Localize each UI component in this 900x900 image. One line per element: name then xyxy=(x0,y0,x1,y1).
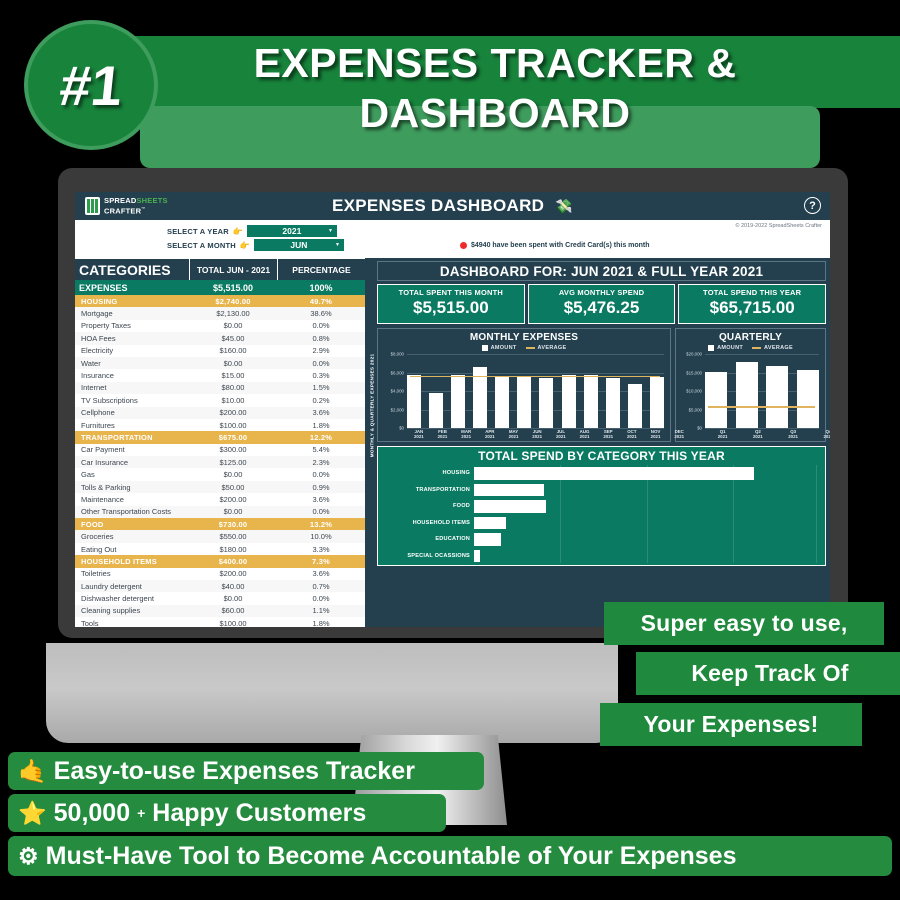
category-bar xyxy=(474,484,544,497)
sheet-topbar: SPREADSHEETS CRAFTER™ EXPENSES DASHBOARD… xyxy=(75,192,830,220)
row-label: Insurance xyxy=(75,371,189,380)
row-pct: 13.2% xyxy=(277,520,365,529)
row-pct: 2.3% xyxy=(277,458,365,467)
row-amount: $125.00 xyxy=(189,458,277,467)
month-select-dropdown[interactable]: JUN ▼ xyxy=(254,239,344,251)
legend-line-icon xyxy=(752,347,761,349)
table-row: Cellphone$200.003.6% xyxy=(75,407,365,419)
row-pct: 0.7% xyxy=(277,582,365,591)
legend-line-icon xyxy=(526,347,535,349)
row-label: TV Subscriptions xyxy=(75,396,189,405)
table-row: Car Insurance$125.002.3% xyxy=(75,456,365,468)
x-tick-label: MAR2021 xyxy=(454,429,478,439)
row-amount: $60.00 xyxy=(189,606,277,615)
row-amount: $80.00 xyxy=(189,383,277,392)
row-label: Car Insurance xyxy=(75,458,189,467)
year-selector-row: SELECT A YEAR 👉 2021 ▼ xyxy=(167,225,337,237)
legend-label: AVERAGE xyxy=(764,345,793,351)
row-amount: $45.00 xyxy=(189,334,277,343)
row-pct: 1.1% xyxy=(277,606,365,615)
feature-text-post: Happy Customers xyxy=(152,799,366,828)
chart-bar xyxy=(650,377,664,428)
spreadsheet-screen: SPREADSHEETS CRAFTER™ EXPENSES DASHBOARD… xyxy=(75,192,830,627)
row-label: Cleaning supplies xyxy=(75,606,189,615)
row-label: HOUSING xyxy=(75,297,189,306)
x-tick-label: APR2021 xyxy=(478,429,502,439)
chart-bar xyxy=(628,384,642,428)
chevron-down-icon: ▼ xyxy=(328,228,333,234)
row-pct: 3.3% xyxy=(277,545,365,554)
table-row: Car Payment$300.005.4% xyxy=(75,444,365,456)
rank-badge-label: #1 xyxy=(56,53,125,118)
chart-title: TOTAL SPEND BY CATEGORY THIS YEAR xyxy=(378,449,825,463)
row-amount: $0.00 xyxy=(189,321,277,330)
sheet-title-text: EXPENSES DASHBOARD xyxy=(332,196,544,215)
callout-keep-track: Keep Track Of xyxy=(636,652,900,695)
table-row: Mortgage$2,130.0038.6% xyxy=(75,307,365,319)
y-tick-label: $15,000 xyxy=(686,370,702,375)
category-bar xyxy=(474,533,501,546)
row-label: Groceries xyxy=(75,532,189,541)
chart-legend: AMOUNT AVERAGE xyxy=(680,345,821,351)
y-tick-label: $5,000 xyxy=(689,407,702,412)
row-amount: $10.00 xyxy=(189,396,277,405)
monthly-plot-area: $0$2,000$4,000$6,000$8,000 xyxy=(382,354,666,428)
category-bar-row: HOUSING xyxy=(378,465,819,482)
row-pct: 0.9% xyxy=(277,483,365,492)
y-axis-labels: $0$5,000$10,000$15,000$20,000 xyxy=(680,354,704,428)
monthly-x-axis-labels: JAN2021FEB2021MAR2021APR2021MAY2021JUN20… xyxy=(407,429,691,439)
kpi-row: TOTAL SPENT THIS MONTH $5,515.00 AVG MON… xyxy=(377,284,826,324)
chart-bar xyxy=(539,378,553,428)
selector-zone: © 2019-2022 SpreadSheets Crafter SELECT … xyxy=(75,220,830,258)
category-bar-row: TRANSPORTATION xyxy=(378,482,819,499)
row-amount: $180.00 xyxy=(189,545,277,554)
table-group-row: HOUSING$2,740.0049.7% xyxy=(75,295,365,307)
x-tick-label: MAY2021 xyxy=(502,429,526,439)
chart-bar xyxy=(429,393,443,428)
chart-bar xyxy=(495,376,509,428)
month-selector-label: SELECT A MONTH xyxy=(167,241,236,250)
row-pct: 1.8% xyxy=(277,619,365,627)
y-tick-label: $2,000 xyxy=(391,407,404,412)
table-group-row: HOUSEHOLD ITEMS$400.007.3% xyxy=(75,555,365,567)
quarterly-x-axis-labels: Q12021Q22021Q32021Q42021 xyxy=(705,429,830,439)
category-plot-area: HOUSINGTRANSPORTATIONFOODHOUSEHOLD ITEMS… xyxy=(378,465,819,563)
chevron-down-icon: ▼ xyxy=(335,242,340,248)
monitor-base xyxy=(46,643,618,743)
table-row: Maintenance$200.003.6% xyxy=(75,493,365,505)
kpi-total-spend-year: TOTAL SPEND THIS YEAR $65,715.00 xyxy=(678,284,826,324)
legend-item-average: AVERAGE xyxy=(526,345,567,351)
feature-text-pre: 50,000 xyxy=(54,799,130,828)
x-tick-label: OCT2021 xyxy=(620,429,644,439)
quarterly-plot-area: $0$5,000$10,000$15,000$20,000 xyxy=(680,354,821,428)
row-label: Laundry detergent xyxy=(75,582,189,591)
chart-bar xyxy=(766,366,788,428)
table-row: Electricity$160.002.9% xyxy=(75,345,365,357)
table-row: Toiletries$200.003.6% xyxy=(75,568,365,580)
section-tab-monthly-quarterly[interactable]: MONTHLY & QUARTERLY EXPENSES 2021 xyxy=(370,347,375,465)
row-label: Gas xyxy=(75,470,189,479)
row-pct: 5.4% xyxy=(277,445,365,454)
row-amount: $100.00 xyxy=(189,619,277,627)
headline-line-1: EXPENSES TRACKER & xyxy=(150,38,840,88)
x-tick-label: JUL2021 xyxy=(549,429,573,439)
row-amount: $160.00 xyxy=(189,346,277,355)
kpi-total-spent-month: TOTAL SPENT THIS MONTH $5,515.00 xyxy=(377,284,525,324)
row-pct: 0.0% xyxy=(277,321,365,330)
table-row: Tolls & Parking$50.000.9% xyxy=(75,481,365,493)
row-pct: 1.8% xyxy=(277,421,365,430)
x-tick-label: Q42021 xyxy=(811,429,830,439)
table-row: Cleaning supplies$60.001.1% xyxy=(75,605,365,617)
chart-bar xyxy=(797,370,819,428)
copyright-text: © 2019-2022 SpreadSheets Crafter xyxy=(735,223,822,229)
row-pct: 0.0% xyxy=(277,507,365,516)
kpi-value: $65,715.00 xyxy=(681,298,823,318)
y-tick-label: $10,000 xyxy=(686,389,702,394)
legend-swatch-icon xyxy=(482,345,488,351)
chart-bar xyxy=(705,372,727,428)
categories-table: CATEGORIES TOTAL JUN - 2021 PERCENTAGE E… xyxy=(75,258,365,627)
monthly-expenses-chart: MONTHLY EXPENSES AMOUNT AVERAGE $0$2 xyxy=(377,328,671,442)
row-label: Toiletries xyxy=(75,569,189,578)
row-amount: $0.00 xyxy=(189,594,277,603)
row-pct: 0.0% xyxy=(277,359,365,368)
headline-line-2: DASHBOARD xyxy=(150,88,840,138)
chart-legend: AMOUNT AVERAGE xyxy=(382,345,666,351)
row-label: Cellphone xyxy=(75,408,189,417)
x-tick-label: Q32021 xyxy=(776,429,811,439)
row-label: Electricity xyxy=(75,346,189,355)
row-amount: $50.00 xyxy=(189,483,277,492)
chart-title: QUARTERLY xyxy=(680,332,821,343)
total-row-pct: 100% xyxy=(277,283,365,293)
table-row: Property Taxes$0.000.0% xyxy=(75,320,365,332)
credit-card-alert-text: $4940 have been spent with Credit Card(s… xyxy=(471,242,650,249)
category-bar-label: EDUCATION xyxy=(378,536,474,542)
average-line xyxy=(410,376,660,378)
table-row: Laundry detergent$40.000.7% xyxy=(75,580,365,592)
gear-icon: ⚙ xyxy=(18,843,39,870)
table-row: Insurance$15.000.3% xyxy=(75,369,365,381)
y-tick-label: $8,000 xyxy=(391,352,404,357)
hand-wave-icon: 🤙 xyxy=(18,758,47,785)
row-label: Tolls & Parking xyxy=(75,483,189,492)
category-bar xyxy=(474,517,506,530)
row-pct: 3.6% xyxy=(277,495,365,504)
category-bar-track xyxy=(474,465,819,482)
legend-label: AVERAGE xyxy=(538,345,567,351)
feature-bar-must-have-tool: ⚙ Must-Have Tool to Become Accountable o… xyxy=(8,836,892,876)
pointing-hand-icon: 👉 xyxy=(240,241,250,250)
chart-bar xyxy=(736,362,758,428)
row-label: Property Taxes xyxy=(75,321,189,330)
row-pct: 0.3% xyxy=(277,371,365,380)
category-bar-label: TRANSPORTATION xyxy=(378,487,474,493)
y-tick-label: $6,000 xyxy=(391,370,404,375)
kpi-value: $5,515.00 xyxy=(380,298,522,318)
x-tick-label: JAN2021 xyxy=(407,429,431,439)
year-select-value: 2021 xyxy=(282,226,301,236)
x-tick-label: Q12021 xyxy=(705,429,740,439)
headline-text: EXPENSES TRACKER & DASHBOARD xyxy=(150,38,840,138)
feature-bar-happy-customers: ⭐ 50,000+ Happy Customers xyxy=(8,794,446,832)
row-pct: 0.0% xyxy=(277,594,365,603)
row-amount: $400.00 xyxy=(189,557,277,566)
table-row: TV Subscriptions$10.000.2% xyxy=(75,394,365,406)
section-tabs: SUMMARY MONTHLY & QUARTERLY EXPENSES 202… xyxy=(365,258,376,627)
money-wings-icon: 💸 xyxy=(555,198,573,214)
chart-bar xyxy=(606,378,620,428)
table-row: Furnitures$100.001.8% xyxy=(75,419,365,431)
category-bar-row: EDUCATION xyxy=(378,531,819,548)
row-label: TRANSPORTATION xyxy=(75,433,189,442)
row-amount: $675.00 xyxy=(189,433,277,442)
kpi-label: TOTAL SPENT THIS MONTH xyxy=(380,288,522,297)
row-amount: $2,740.00 xyxy=(189,297,277,306)
quarterly-chart: QUARTERLY AMOUNT AVERAGE $0$5,000$10 xyxy=(675,328,826,442)
feature-text: Easy-to-use Expenses Tracker xyxy=(54,757,415,786)
table-row: Internet$80.001.5% xyxy=(75,382,365,394)
row-amount: $2,130.00 xyxy=(189,309,277,318)
category-bar-track xyxy=(474,482,819,499)
rank-badge: #1 xyxy=(24,20,158,150)
row-pct: 7.3% xyxy=(277,557,365,566)
chart-title: MONTHLY EXPENSES xyxy=(382,332,666,343)
table-row: Tools$100.001.8% xyxy=(75,617,365,627)
x-tick-label: SEP2021 xyxy=(596,429,620,439)
row-amount: $100.00 xyxy=(189,421,277,430)
section-tab-summary[interactable]: SUMMARY xyxy=(370,256,375,326)
category-bar-track xyxy=(474,498,819,515)
star-icon: ⭐ xyxy=(18,800,47,827)
row-amount: $15.00 xyxy=(189,371,277,380)
category-bar-row: SPECIAL OCASSIONS xyxy=(378,548,819,565)
row-amount: $300.00 xyxy=(189,445,277,454)
table-group-row: TRANSPORTATION$675.0012.2% xyxy=(75,431,365,443)
bars-container xyxy=(407,354,664,428)
row-label: Maintenance xyxy=(75,495,189,504)
total-row-label: EXPENSES xyxy=(75,283,189,293)
row-amount: $200.00 xyxy=(189,408,277,417)
chart-bar xyxy=(562,375,576,428)
category-bar-label: HOUSING xyxy=(378,470,474,476)
row-label: Eating Out xyxy=(75,545,189,554)
row-amount: $200.00 xyxy=(189,569,277,578)
y-tick-label: $0 xyxy=(399,426,404,431)
total-row-amount: $5,515.00 xyxy=(189,283,277,293)
kpi-label: AVG MONTHLY SPEND xyxy=(531,288,673,297)
y-tick-label: $4,000 xyxy=(391,389,404,394)
section-tab-by-category[interactable]: EXPENSES BY CATEGORY 2021 xyxy=(370,500,375,602)
category-bar-row: HOUSEHOLD ITEMS xyxy=(378,515,819,532)
row-label: Internet xyxy=(75,383,189,392)
row-amount: $0.00 xyxy=(189,470,277,479)
table-group-row: FOOD$730.0013.2% xyxy=(75,518,365,530)
legend-item-average: AVERAGE xyxy=(752,345,793,351)
help-icon[interactable]: ? xyxy=(804,197,821,214)
category-bar-row: FOOD xyxy=(378,498,819,515)
category-bar-label: SPECIAL OCASSIONS xyxy=(378,553,474,559)
row-label: Car Payment xyxy=(75,445,189,454)
chart-bar xyxy=(451,375,465,428)
row-pct: 49.7% xyxy=(277,297,365,306)
x-tick-label: JUN2021 xyxy=(525,429,549,439)
table-header-row: CATEGORIES TOTAL JUN - 2021 PERCENTAGE xyxy=(75,258,365,280)
row-label: Mortgage xyxy=(75,309,189,318)
x-tick-label: NOV2021 xyxy=(644,429,668,439)
x-tick-label: FEB2021 xyxy=(431,429,455,439)
y-tick-label: $20,000 xyxy=(686,352,702,357)
category-bar xyxy=(474,550,480,563)
table-row: Groceries$550.0010.0% xyxy=(75,530,365,542)
table-row: Other Transportation Costs$0.000.0% xyxy=(75,506,365,518)
category-spend-chart: TOTAL SPEND BY CATEGORY THIS YEAR HOUSIN… xyxy=(377,446,826,566)
pointing-hand-icon: 👉 xyxy=(233,227,243,236)
table-row: Eating Out$180.003.3% xyxy=(75,543,365,555)
table-row: Dishwasher detergent$0.000.0% xyxy=(75,592,365,604)
y-tick-label: $0 xyxy=(697,426,702,431)
row-amount: $0.00 xyxy=(189,359,277,368)
row-amount: $550.00 xyxy=(189,532,277,541)
row-label: Dishwasher detergent xyxy=(75,594,189,603)
row-amount: $0.00 xyxy=(189,507,277,516)
callout-your-expenses: Your Expenses! xyxy=(600,703,862,746)
column-header-categories: CATEGORIES xyxy=(75,259,189,280)
row-pct: 0.8% xyxy=(277,334,365,343)
row-pct: 12.2% xyxy=(277,433,365,442)
category-bar xyxy=(474,467,754,480)
x-tick-label: AUG2021 xyxy=(573,429,597,439)
legend-swatch-icon xyxy=(708,345,714,351)
charts-row: MONTHLY EXPENSES AMOUNT AVERAGE $0$2 xyxy=(377,328,826,442)
row-pct: 3.6% xyxy=(277,408,365,417)
year-select-dropdown[interactable]: 2021 ▼ xyxy=(247,225,337,237)
feature-bar-easy-to-use: 🤙 Easy-to-use Expenses Tracker xyxy=(8,752,484,790)
row-pct: 0.2% xyxy=(277,396,365,405)
chart-bar xyxy=(517,377,531,428)
month-select-value: JUN xyxy=(290,240,307,250)
kpi-value: $5,476.25 xyxy=(531,298,673,318)
chart-bar xyxy=(584,375,598,428)
kpi-avg-monthly-spend: AVG MONTHLY SPEND $5,476.25 xyxy=(528,284,676,324)
row-pct: 1.5% xyxy=(277,383,365,392)
row-label: Other Transportation Costs xyxy=(75,507,189,516)
row-label: Furnitures xyxy=(75,421,189,430)
category-bar xyxy=(474,500,546,513)
promo-stage: EXPENSES TRACKER & DASHBOARD #1 SPREADSH… xyxy=(0,0,900,900)
column-header-percentage: PERCENTAGE xyxy=(277,259,365,280)
row-pct: 10.0% xyxy=(277,532,365,541)
table-rows-container: HOUSING$2,740.0049.7%Mortgage$2,130.0038… xyxy=(75,295,365,627)
feature-text: Must-Have Tool to Become Accountable of … xyxy=(46,842,737,871)
category-bar-track xyxy=(474,548,819,565)
row-pct: 0.0% xyxy=(277,470,365,479)
row-pct: 38.6% xyxy=(277,309,365,318)
month-selector-row: SELECT A MONTH 👉 JUN ▼ xyxy=(167,239,344,251)
table-total-row: EXPENSES $5,515.00 100% xyxy=(75,280,365,295)
category-bar-track xyxy=(474,531,819,548)
dashboard-title: DASHBOARD FOR: JUN 2021 & FULL YEAR 2021 xyxy=(377,261,826,281)
year-selector-label: SELECT A YEAR xyxy=(167,227,229,236)
legend-item-amount: AMOUNT xyxy=(708,345,743,351)
x-tick-label: Q22021 xyxy=(740,429,775,439)
row-label: Tools xyxy=(75,619,189,627)
category-bar-track xyxy=(474,515,819,532)
credit-card-alert: $4940 have been spent with Credit Card(s… xyxy=(460,242,650,249)
row-label: HOUSEHOLD ITEMS xyxy=(75,557,189,566)
row-label: HOA Fees xyxy=(75,334,189,343)
row-label: FOOD xyxy=(75,520,189,529)
dashboard-pane: SUMMARY MONTHLY & QUARTERLY EXPENSES 202… xyxy=(365,258,830,627)
x-tick-label: DEC2021 xyxy=(667,429,691,439)
sheet-body: CATEGORIES TOTAL JUN - 2021 PERCENTAGE E… xyxy=(75,258,830,627)
category-bar-label: HOUSEHOLD ITEMS xyxy=(378,520,474,526)
column-header-total: TOTAL JUN - 2021 xyxy=(189,259,277,280)
alert-dot-icon xyxy=(460,242,467,249)
feature-sup: + xyxy=(137,805,145,821)
row-pct: 3.6% xyxy=(277,569,365,578)
row-pct: 2.9% xyxy=(277,346,365,355)
legend-label: AMOUNT xyxy=(491,345,517,351)
chart-bar xyxy=(407,375,421,428)
row-amount: $40.00 xyxy=(189,582,277,591)
sheet-title: EXPENSES DASHBOARD 💸 xyxy=(75,196,830,216)
kpi-label: TOTAL SPEND THIS YEAR xyxy=(681,288,823,297)
bars-container xyxy=(705,354,819,428)
legend-label: AMOUNT xyxy=(717,345,743,351)
table-row: Gas$0.000.0% xyxy=(75,468,365,480)
callout-super-easy: Super easy to use, xyxy=(604,602,884,645)
table-row: HOA Fees$45.000.8% xyxy=(75,332,365,344)
y-axis-labels: $0$2,000$4,000$6,000$8,000 xyxy=(382,354,406,428)
category-bar-label: FOOD xyxy=(378,503,474,509)
row-amount: $730.00 xyxy=(189,520,277,529)
row-label: Water xyxy=(75,359,189,368)
average-line xyxy=(708,406,815,408)
legend-item-amount: AMOUNT xyxy=(482,345,517,351)
row-amount: $200.00 xyxy=(189,495,277,504)
table-row: Water$0.000.0% xyxy=(75,357,365,369)
